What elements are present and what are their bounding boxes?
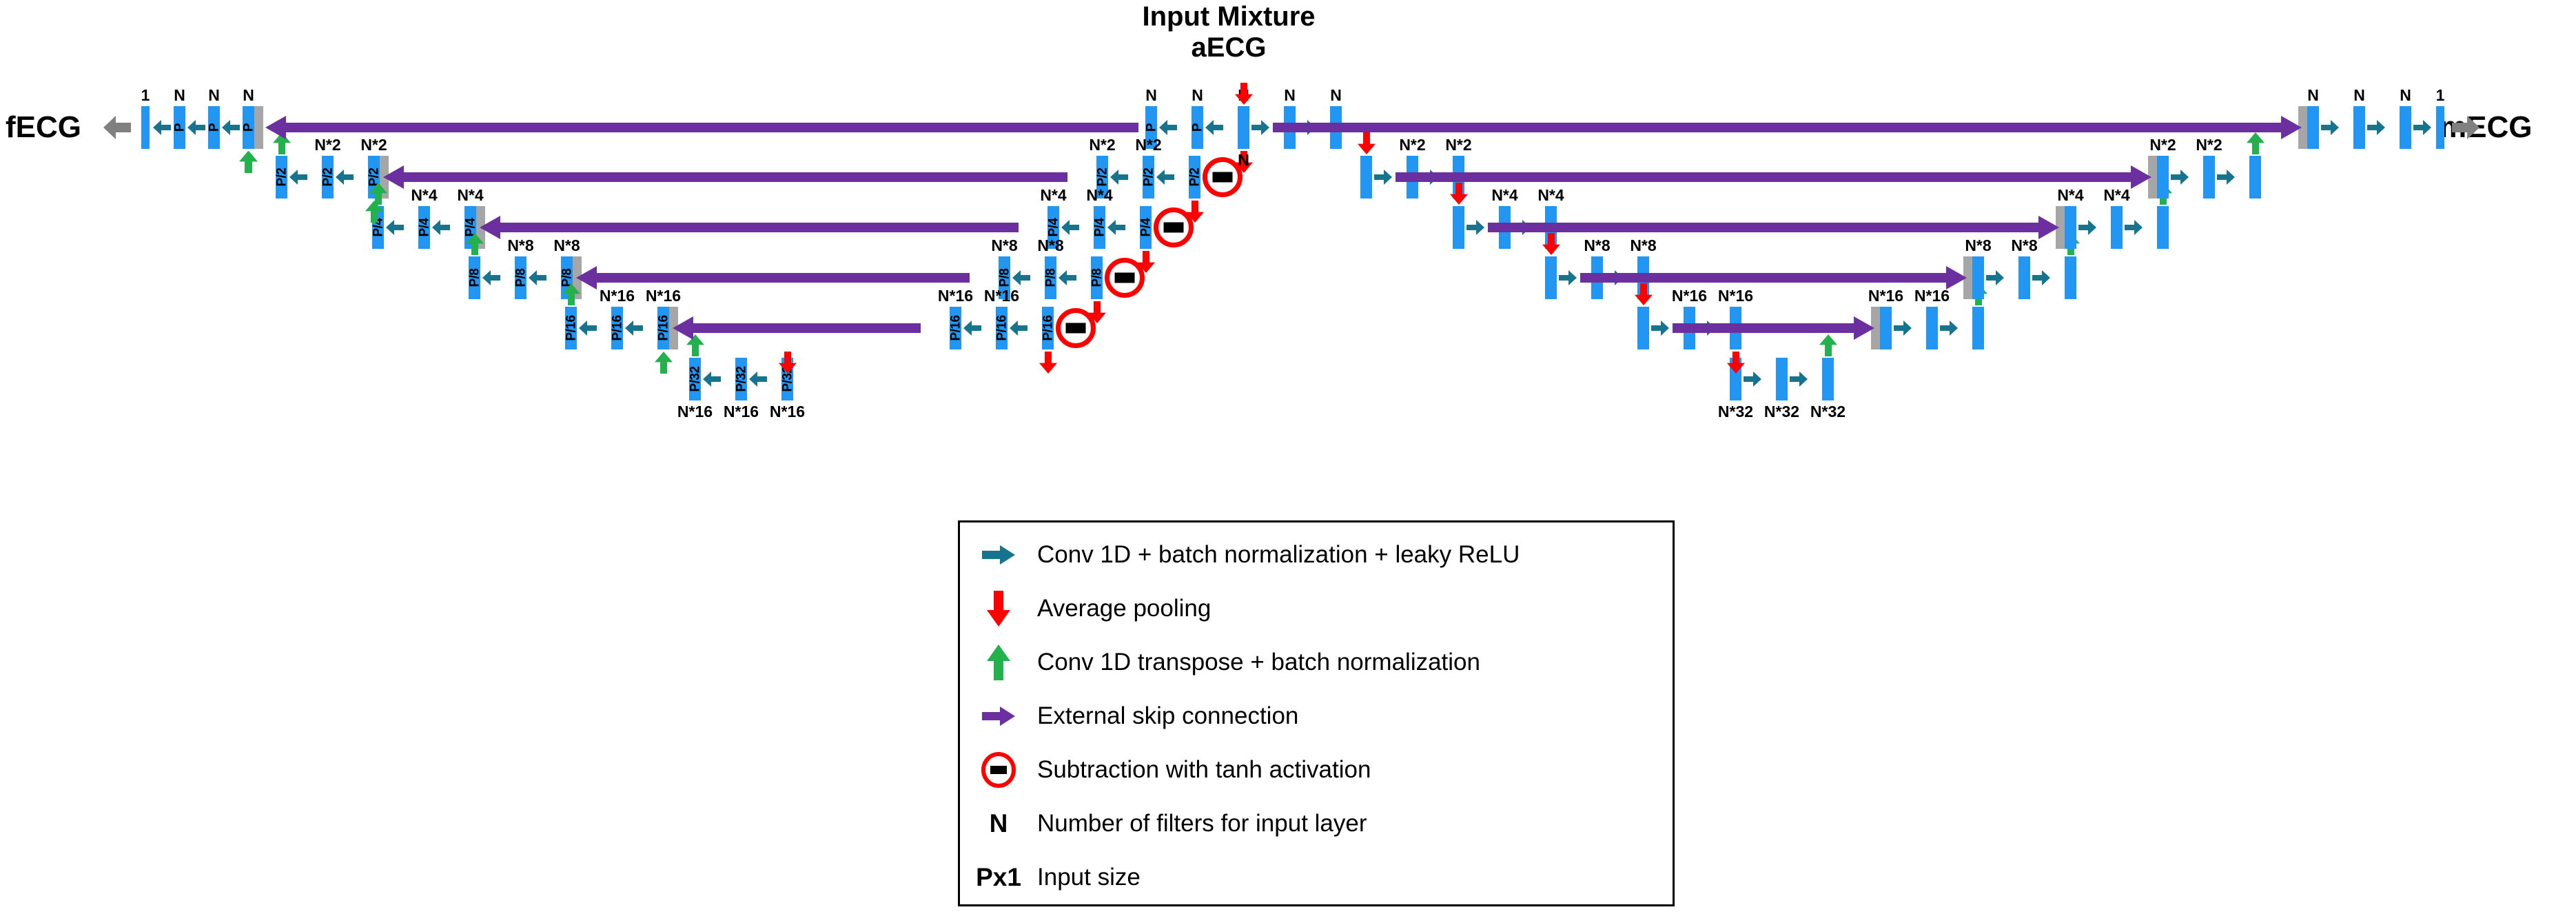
feature-map-bar [2065, 206, 2076, 249]
bar-size-label: P/32 [688, 366, 702, 392]
feature-map-bar: P/8 [1091, 256, 1103, 299]
conv-arrow-icon [289, 170, 307, 185]
subtraction-node[interactable] [1056, 308, 1096, 348]
skip-connection-arrow [1580, 266, 1967, 293]
feature-map-bar [1880, 307, 1892, 349]
skip-connection-arrow [480, 216, 1019, 243]
feature-map-bar [1972, 307, 1984, 349]
feature-map-bar [2353, 106, 2365, 149]
feature-map-bar [1822, 358, 1834, 400]
bar-size-label: P/16 [564, 315, 577, 341]
legend-item-label: Conv 1D + batch normalization + leaky Re… [1037, 541, 1520, 569]
legend-item-5: Subtraction with tanh activation [960, 750, 1673, 790]
bar-size-label: P [242, 123, 255, 132]
conv-arrow-icon [386, 220, 404, 235]
feature-map-bar: P/2 [276, 156, 287, 199]
feature-map-bar [2065, 256, 2076, 299]
pooling-arrow-icon [1235, 83, 1253, 108]
pooling-arrow-icon [779, 352, 797, 377]
pooling-arrow-icon [1039, 352, 1057, 377]
transpose-arrow-icon [960, 644, 1037, 680]
feature-map-bar [1972, 256, 1984, 299]
conv-arrow-icon [222, 120, 240, 135]
transpose-arrow-icon [240, 151, 258, 176]
legend-item-label: Number of filters for input layer [1037, 810, 1367, 837]
bar-size-label: P/16 [1041, 315, 1054, 341]
bar-size-label: P [1145, 123, 1158, 132]
subtraction-minus-icon [1115, 272, 1135, 283]
conv-arrow-icon [1059, 270, 1076, 285]
feature-map-bar: P/16 [1042, 307, 1054, 349]
filter-count-label: N*16 [974, 288, 1030, 304]
conv-arrow-icon [749, 372, 767, 387]
bar-size-label: P/4 [418, 218, 431, 236]
conv-arrow-icon [960, 544, 1037, 566]
feature-map-bar: P/16 [657, 307, 669, 349]
skip-connection-arrow [1673, 316, 1874, 343]
feature-map-bar [1776, 358, 1788, 400]
bar-size-label: P [207, 123, 221, 132]
bar-size-label: P/16 [611, 315, 624, 341]
fecg-output-bar [141, 106, 150, 149]
feature-map-bar: P/8 [1045, 256, 1056, 299]
title-line-2: aECG [1084, 32, 1373, 63]
bar-size-label: P/2 [1096, 167, 1109, 186]
bar-size-label: P/2 [1188, 167, 1201, 186]
feature-map-bar: P/32 [735, 358, 747, 400]
bar-size-label: P/8 [1044, 268, 1057, 287]
bar-size-label: P/2 [275, 167, 288, 186]
conv-arrow-icon [2321, 120, 2339, 135]
bar-size-label: P/8 [998, 268, 1011, 287]
conv-arrow-icon [1940, 321, 1958, 336]
px1-symbol: Px1 [960, 863, 1037, 892]
conv-arrow-icon [963, 321, 981, 336]
feature-map-bar: P/4 [418, 206, 430, 249]
skip-connection-arrow [576, 266, 970, 293]
feature-map-bar: P/2 [1143, 156, 1154, 199]
conv-arrow-icon [529, 270, 546, 285]
conv-arrow-icon [625, 321, 643, 336]
feature-map-bar: P/16 [611, 307, 623, 349]
feature-map-bar [1238, 106, 1249, 149]
subtraction-minus-icon [1213, 172, 1233, 182]
conv-arrow-icon [187, 120, 205, 135]
bar-size-label: P/16 [657, 315, 670, 341]
legend-item-6: NNumber of filters for input layer [960, 804, 1673, 844]
conv-arrow-icon [1159, 120, 1177, 135]
conv-arrow-icon [579, 321, 597, 336]
feature-map-bar [1360, 156, 1372, 199]
feature-map-bar [1637, 307, 1649, 349]
conv-arrow-icon [1466, 220, 1484, 235]
feature-map-bar: P [1192, 106, 1203, 149]
feature-map-bar: P [208, 106, 220, 149]
bar-size-label: P/32 [735, 366, 748, 392]
conv-arrow-icon [1894, 321, 1912, 336]
feature-map-bar [2111, 206, 2123, 249]
bar-size-label: P/4 [1093, 218, 1106, 236]
conv-arrow-icon [1061, 220, 1079, 235]
feature-map-bar: P/2 [322, 156, 334, 199]
bar-size-label: P/16 [949, 315, 962, 341]
feature-map-bar [2157, 206, 2169, 249]
bar-size-label: P/4 [1047, 218, 1060, 236]
title-line-1: Input Mixture [1084, 1, 1373, 32]
conv-arrow-icon [1651, 321, 1669, 336]
conv-arrow-icon [1012, 270, 1030, 285]
legend-item-3: Conv 1D transpose + batch normalization [960, 642, 1673, 682]
filter-count-label: N [1309, 88, 1364, 103]
legend-item-label: Input size [1037, 864, 1141, 891]
subtraction-node[interactable] [1154, 207, 1194, 247]
conv-arrow-icon [2078, 220, 2096, 235]
feature-map-bar: P/8 [515, 256, 527, 299]
transpose-arrow-icon [655, 352, 673, 377]
feature-map-bar: P/2 [1189, 156, 1200, 199]
conv-arrow-icon [2413, 120, 2431, 135]
feature-map-bar: P/16 [565, 307, 577, 349]
conv-arrow-icon [2171, 170, 2189, 185]
conv-arrow-icon [1986, 270, 2004, 285]
bar-size-label: P/8 [468, 268, 481, 287]
conv-arrow-icon [482, 270, 500, 285]
skip-connection-arrow [673, 316, 921, 343]
conv-arrow-icon [2032, 270, 2050, 285]
conv-arrow-icon [1205, 120, 1223, 135]
fecg-output-label: fECG [6, 110, 81, 145]
bar-size-label: P/8 [514, 268, 527, 287]
conv-arrow-icon [1559, 270, 1577, 285]
feature-map-bar [2157, 156, 2169, 199]
skip-connection-arrow [383, 165, 1067, 192]
feature-map-bar [2018, 256, 2030, 299]
feature-map-bar: P/32 [689, 358, 701, 400]
pooling-arrow-icon [1727, 352, 1745, 377]
legend-item-label: Conv 1D transpose + batch normalization [1037, 649, 1480, 676]
bar-size-label: P/8 [1090, 268, 1103, 287]
legend-item-2: Average pooling [960, 589, 1673, 629]
skip-connection-arrow [1396, 165, 2151, 192]
subtraction-minus-icon [1164, 222, 1184, 232]
filter-count-label: N [221, 88, 276, 103]
skip-connection-arrow [1273, 116, 2302, 143]
skip-connection-arrow [1488, 216, 2059, 243]
legend-item-7: Px1Input size [960, 857, 1673, 897]
conv-arrow-icon [2217, 170, 2235, 185]
feature-map-bar [1453, 206, 1464, 249]
feature-map-bar [1545, 256, 1557, 299]
fecg-output-arrow [103, 116, 131, 143]
conv-arrow-icon [1156, 170, 1174, 185]
bar-size-label: P [173, 123, 186, 132]
conv-arrow-icon [2367, 120, 2385, 135]
filter-count-label: N*16 [760, 404, 815, 420]
feature-map-bar [2307, 106, 2319, 149]
feature-map-bar: P [243, 106, 254, 149]
filter-count-label: 1 [2413, 88, 2468, 103]
feature-map-bar: P [174, 106, 185, 149]
feature-map-bar [2203, 156, 2215, 199]
mecg-output-bar [2436, 106, 2444, 149]
bar-size-label: P [1191, 123, 1204, 132]
filter-count-label: N*32 [1801, 404, 1856, 420]
feature-map-bar: P/16 [996, 307, 1008, 349]
legend-item-1: Conv 1D + batch normalization + leaky Re… [960, 535, 1673, 575]
bar-size-label: P/2 [321, 167, 334, 186]
mecg-output-arrow [2452, 116, 2480, 143]
skip-arrow-icon [960, 705, 1037, 727]
conv-arrow-icon [432, 220, 450, 235]
transpose-arrow-icon [365, 201, 383, 226]
feature-map-bar [2249, 156, 2261, 199]
legend-box: Conv 1D + batch normalization + leaky Re… [958, 520, 1675, 906]
legend-item-4: External skip connection [960, 696, 1673, 736]
conv-arrow-icon [153, 120, 171, 135]
page-title: Input Mixture aECG [1084, 1, 1373, 63]
conv-arrow-icon [336, 170, 354, 185]
feature-map-bar: P/4 [1140, 206, 1152, 249]
conv-arrow-icon [2125, 220, 2143, 235]
legend-item-label: Subtraction with tanh activation [1037, 756, 1371, 784]
filter-count-label: N*4 [1072, 187, 1127, 203]
n-symbol: N [990, 809, 1008, 838]
concat-stripe [254, 106, 263, 149]
filter-count-label: N [1216, 152, 1271, 168]
subtraction-icon [960, 752, 1037, 788]
px1-symbol: Px1 [976, 863, 1021, 892]
legend-item-label: External skip connection [1037, 702, 1298, 730]
conv-arrow-icon [1790, 372, 1808, 387]
conv-arrow-icon [1374, 170, 1392, 185]
subtraction-node[interactable] [1105, 258, 1145, 298]
filter-count-label: N*8 [1023, 238, 1079, 254]
conv-arrow-icon [1251, 120, 1269, 135]
skip-connection-arrow [265, 116, 1138, 143]
pooling-arrow-icon [960, 591, 1037, 627]
feature-map-bar [1926, 307, 1938, 349]
bar-size-label: P/4 [1139, 218, 1152, 236]
conv-arrow-icon [1110, 170, 1128, 185]
bar-size-label: P/2 [1142, 167, 1155, 186]
legend-item-label: Average pooling [1037, 595, 1211, 622]
conv-arrow-icon [1010, 321, 1028, 336]
feature-map-bar: P/4 [1094, 206, 1105, 249]
feature-map-bar: P/8 [469, 256, 480, 299]
bar-size-label: P/16 [995, 315, 1008, 341]
subtraction-minus-icon [1066, 323, 1086, 333]
n-symbol: N [960, 809, 1037, 838]
conv-arrow-icon [1107, 220, 1125, 235]
feature-map-bar [2400, 106, 2411, 149]
conv-arrow-icon [1744, 372, 1761, 387]
conv-arrow-icon [703, 372, 721, 387]
diagram-canvas: Input Mixture aECG fECG mECG 1PNPNPNP/2P… [0, 0, 2576, 914]
feature-map-bar: P/16 [950, 307, 961, 349]
